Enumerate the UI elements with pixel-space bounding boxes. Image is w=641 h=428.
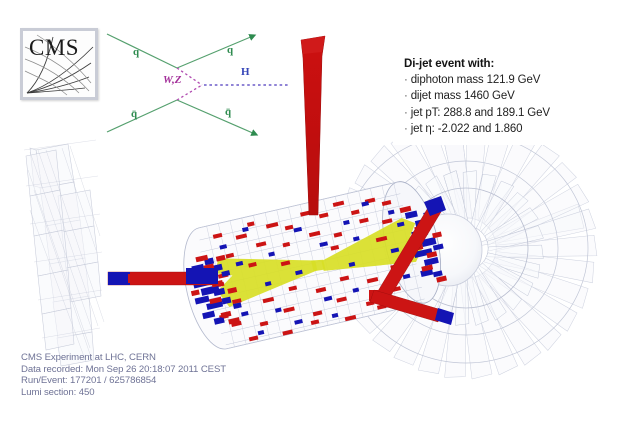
- event-info-box: Di-jet event with: diphoton mass 121.9 G…: [393, 44, 609, 145]
- caption-date: Data recorded: Mon Sep 26 20:18:07 2011 …: [21, 364, 226, 376]
- feynman-label-qbar-in: q̄: [131, 108, 137, 120]
- feynman-label-qbar-out: q̄: [225, 106, 231, 118]
- event-caption: CMS Experiment at LHC, CERN Data recorde…: [21, 352, 226, 398]
- event-display-canvas: CMS q q q̄: [0, 0, 641, 428]
- event-info-list: diphoton mass 121.9 GeV dijet mass 1460 …: [393, 72, 609, 138]
- caption-run-event: Run/Event: 177201 / 625786854: [21, 375, 226, 387]
- feynman-label-q-out: q: [227, 44, 233, 56]
- feynman-lines: [105, 22, 290, 147]
- feynman-label-wz: W,Z: [163, 74, 181, 86]
- jet-left-horizontal: [108, 268, 218, 285]
- caption-lumi: Lumi section: 450: [21, 387, 226, 399]
- info-item-jet-pt: jet pT: 288.8 and 189.1 GeV: [404, 105, 609, 121]
- jet-vertical-up: [301, 36, 325, 215]
- info-item-jet-eta: jet η: -2.022 and 1.860: [404, 121, 609, 137]
- cms-logo-text: CMS: [29, 35, 79, 61]
- feynman-label-q-in: q: [133, 46, 139, 58]
- muon-chambers-left: [24, 140, 104, 366]
- feynman-label-higgs: H: [241, 66, 250, 78]
- cms-logo: CMS: [20, 28, 98, 100]
- feynman-diagram: q q q̄ q̄ W,Z H: [105, 22, 290, 147]
- caption-experiment: CMS Experiment at LHC, CERN: [21, 352, 226, 364]
- info-item-diphoton-mass: diphoton mass 121.9 GeV: [404, 72, 609, 88]
- event-info-title: Di-jet event with:: [404, 58, 609, 70]
- info-item-dijet-mass: dijet mass 1460 GeV: [404, 88, 609, 104]
